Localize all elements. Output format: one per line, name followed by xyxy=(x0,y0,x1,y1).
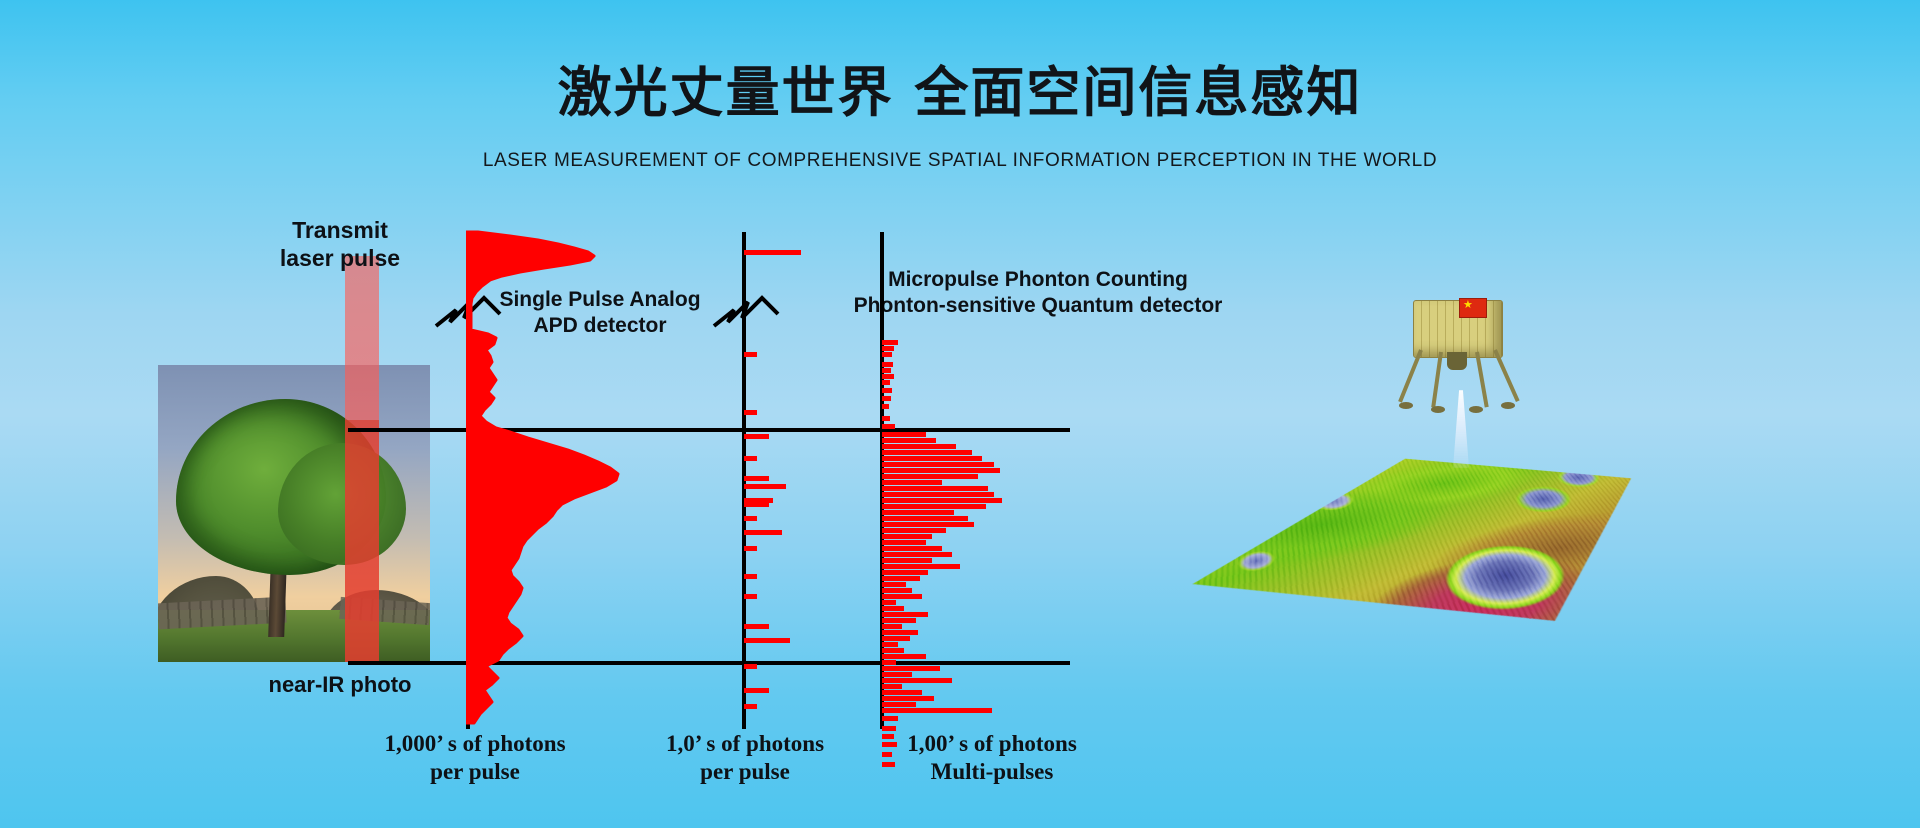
photon-count-bar xyxy=(882,570,928,575)
photon-count-bar xyxy=(882,528,946,533)
photon-count-bar xyxy=(882,630,918,635)
photon-count-bar xyxy=(744,456,757,461)
photon-count-bar xyxy=(882,368,891,373)
photon-count-bar xyxy=(882,540,926,545)
photon-count-bar xyxy=(882,612,928,617)
photon-count-bar xyxy=(882,672,912,677)
photon-count-bar xyxy=(882,660,896,665)
photon-count-bar xyxy=(882,444,956,449)
axis-caption-single-photon-line2: per pulse xyxy=(625,758,865,786)
photon-count-bar xyxy=(882,594,922,599)
photon-count-bar xyxy=(744,410,757,415)
lunar-lidar-scene xyxy=(1185,290,1745,720)
photon-count-bar xyxy=(882,690,922,695)
photon-count-bar xyxy=(882,654,926,659)
photon-count-bar xyxy=(882,684,902,689)
axis-caption-micropulse: 1,00’ s of photons Multi-pulses xyxy=(862,730,1122,786)
photon-count-bar xyxy=(882,624,902,629)
photon-count-bar xyxy=(882,480,942,485)
photon-count-bar xyxy=(882,346,894,351)
photon-count-bar xyxy=(882,600,896,605)
lander-footpad xyxy=(1501,402,1515,409)
transmit-laser-label: Transmit laser pulse xyxy=(235,216,445,272)
photon-count-bar xyxy=(744,502,769,507)
photon-count-bar xyxy=(744,434,769,439)
photon-count-bar xyxy=(744,476,769,481)
photon-count-bar xyxy=(744,688,769,693)
lander-leg xyxy=(1493,349,1519,402)
photon-count-bar xyxy=(744,546,757,551)
photon-count-bar xyxy=(744,594,757,599)
laser-beam-foliage-overlap xyxy=(345,420,379,662)
transmit-laser-label-line2: laser pulse xyxy=(235,244,445,272)
lander-footpad xyxy=(1399,402,1413,409)
photon-count-bar xyxy=(882,708,992,713)
photon-count-bar xyxy=(882,564,960,569)
near-ir-photo xyxy=(158,365,430,662)
photon-count-bar xyxy=(882,424,895,429)
terrain-scanline-texture xyxy=(1186,433,1738,698)
micropulse-photon-counting-chart xyxy=(882,228,1102,788)
lunar-lander xyxy=(1393,290,1523,410)
axis-caption-micropulse-line1: 1,00’ s of photons xyxy=(862,730,1122,758)
photon-count-bar xyxy=(882,486,988,491)
single-pulse-analog-waveform xyxy=(466,228,726,748)
page-subtitle: LASER MEASUREMENT OF COMPREHENSIVE SPATI… xyxy=(0,150,1920,172)
lander-footpad xyxy=(1469,406,1483,413)
axis-caption-single-photon: 1,0’ s of photons per pulse xyxy=(625,730,865,786)
page-title: 激光丈量世界 全面空间信息感知 xyxy=(0,48,1920,127)
lander-footpad xyxy=(1431,406,1445,413)
photon-count-bar xyxy=(882,474,978,479)
photon-count-bar xyxy=(744,624,769,629)
lunar-terrain-elevation-model xyxy=(1186,433,1738,698)
photon-count-bar xyxy=(882,546,942,551)
chinese-flag-icon xyxy=(1459,298,1487,318)
photon-count-bar xyxy=(882,374,894,379)
photon-count-bar xyxy=(882,558,932,563)
photon-count-bar xyxy=(882,498,1002,503)
axis-caption-micropulse-line2: Multi-pulses xyxy=(862,758,1122,786)
photon-count-bar xyxy=(882,666,940,671)
axis-caption-analog-line2: per pulse xyxy=(355,758,595,786)
photon-count-bar xyxy=(882,716,898,721)
photon-count-bar xyxy=(882,552,952,557)
photon-count-bar xyxy=(744,574,757,579)
photon-count-bar xyxy=(744,638,790,643)
transmit-laser-label-line1: Transmit xyxy=(235,216,445,244)
photon-count-bar xyxy=(882,492,994,497)
photon-count-bar xyxy=(882,588,912,593)
photon-count-bar xyxy=(744,352,757,357)
lander-leg xyxy=(1431,352,1443,408)
photon-count-bar xyxy=(882,450,972,455)
photon-count-bar xyxy=(882,380,890,385)
lander-leg xyxy=(1398,349,1423,402)
lander-body xyxy=(1413,300,1503,358)
photon-count-bar xyxy=(882,696,934,701)
photo-tree-canopy-secondary xyxy=(278,443,406,565)
photon-count-bar xyxy=(882,582,906,587)
photon-count-bar xyxy=(882,340,898,345)
poster-canvas: 激光丈量世界 全面空间信息感知 LASER MEASUREMENT OF COM… xyxy=(0,0,1920,828)
photon-count-bar xyxy=(744,484,786,489)
photon-count-bar xyxy=(882,636,910,641)
photon-count-bar xyxy=(744,250,801,255)
photon-count-bar xyxy=(882,678,952,683)
photon-count-bar xyxy=(882,606,904,611)
photon-count-bar xyxy=(744,516,757,521)
photon-count-bar xyxy=(882,534,932,539)
axis-caption-analog-line1: 1,000’ s of photons xyxy=(355,730,595,758)
photon-count-bar xyxy=(882,416,890,421)
photon-count-bar xyxy=(882,468,1000,473)
photon-count-bar xyxy=(744,704,757,709)
photon-count-bar xyxy=(882,516,968,521)
lander-leg xyxy=(1475,352,1489,408)
photon-count-bar xyxy=(882,432,926,437)
photon-count-bar xyxy=(882,618,916,623)
photon-count-bar xyxy=(882,438,936,443)
photon-count-bar xyxy=(882,396,891,401)
photon-count-bar xyxy=(882,456,982,461)
axis-caption-analog: 1,000’ s of photons per pulse xyxy=(355,730,595,786)
photon-count-bar xyxy=(882,576,920,581)
near-ir-photo-caption: near-IR photo xyxy=(220,672,460,699)
photon-count-bar xyxy=(744,530,782,535)
analog-waveform-fill xyxy=(466,232,618,723)
photon-count-bar xyxy=(882,504,986,509)
photon-count-bar xyxy=(882,352,892,357)
photon-count-bar xyxy=(882,388,892,393)
photon-count-bar xyxy=(882,362,893,367)
photon-count-bar xyxy=(882,702,916,707)
photon-count-bar xyxy=(882,404,889,409)
photon-count-bar xyxy=(882,648,904,653)
photon-count-bar xyxy=(882,522,974,527)
axis-caption-single-photon-line1: 1,0’ s of photons xyxy=(625,730,865,758)
photon-count-bar xyxy=(882,462,994,467)
photon-count-bar xyxy=(882,510,954,515)
lander-engine-nozzle xyxy=(1447,352,1467,370)
photon-count-bar xyxy=(882,642,898,647)
photon-count-bar xyxy=(744,664,757,669)
